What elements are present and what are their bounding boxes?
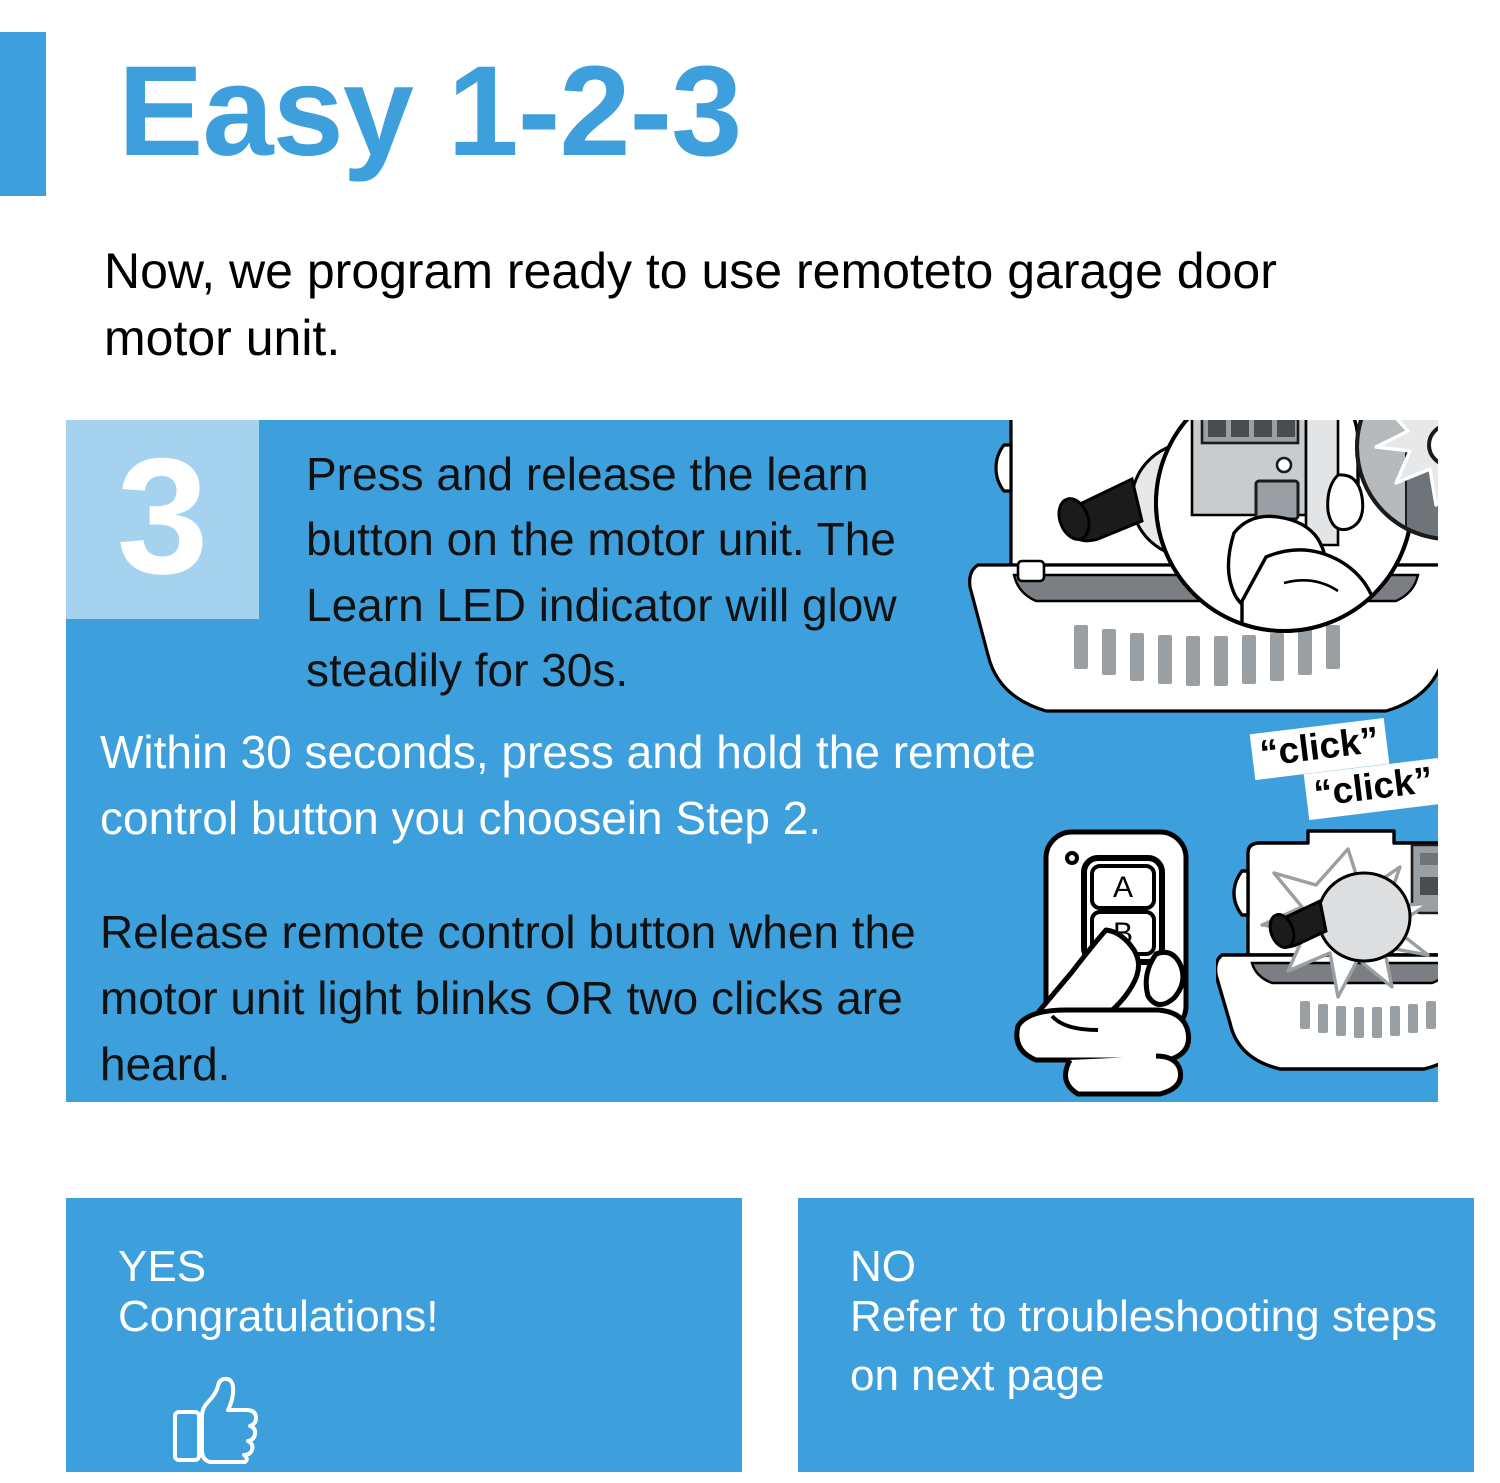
remote-button-a-label: A bbox=[1113, 871, 1133, 904]
step-number-badge: 3 bbox=[66, 420, 259, 619]
step-instruction-white: Within 30 seconds, press and hold the re… bbox=[100, 720, 1075, 852]
outcome-no-text: Refer to troubleshooting steps on next p… bbox=[850, 1288, 1450, 1406]
step-number-label: 3 bbox=[117, 434, 209, 599]
remote-control-hand-illustration: A B bbox=[1006, 820, 1236, 1102]
page-title: Easy 1-2-3 bbox=[118, 38, 741, 185]
intro-paragraph: Now, we program ready to use remoteto ga… bbox=[104, 238, 1394, 372]
step-instruction-dark: Release remote control button when the m… bbox=[100, 900, 1000, 1097]
motor-unit-blinking-light-illustration bbox=[1216, 815, 1438, 1080]
outcome-box-yes: YES Congratulations! bbox=[66, 1198, 742, 1472]
step-instruction-heading: Press and release the learn button on th… bbox=[306, 442, 946, 703]
step-panel: 3 Press and release the learn button on … bbox=[66, 420, 1438, 1102]
outcome-yes-text: Congratulations! bbox=[118, 1288, 718, 1347]
thumbs-up-icon bbox=[172, 1376, 262, 1464]
outcome-box-no: NO Refer to troubleshooting steps on nex… bbox=[798, 1198, 1474, 1472]
motor-unit-learn-button-illustration bbox=[966, 420, 1438, 725]
header-accent-bar bbox=[0, 32, 46, 196]
